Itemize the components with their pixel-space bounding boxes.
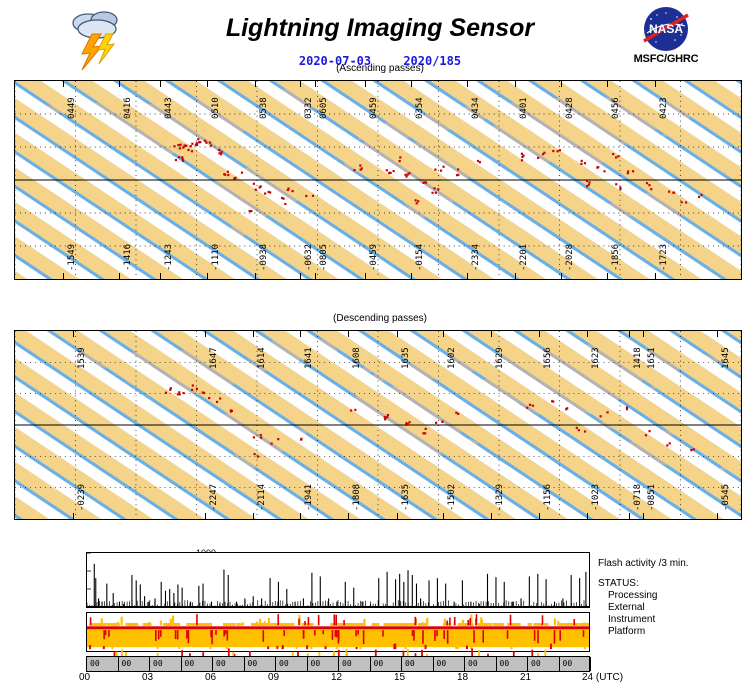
orbit-time-label-top: 1647	[209, 347, 219, 369]
orbit-tick-mark	[315, 81, 316, 87]
orbit-time-label-bottom: -1502	[447, 484, 457, 511]
x-axis-label: 12	[331, 672, 342, 683]
orbit-cell[interactable]: 00	[497, 657, 529, 671]
nasa-logo: NASA MSFC/GHRC	[628, 6, 704, 76]
orbit-tick-mark	[63, 81, 64, 87]
status-heading: STATUS:	[598, 578, 756, 590]
chart-legend: Flash activity /3 min. STATUS: Processin…	[598, 558, 756, 638]
orbit-tick-mark	[629, 513, 630, 519]
orbit-tick-mark	[348, 513, 349, 519]
orbit-time-label-top: 0605	[319, 97, 329, 119]
status-label-external: External	[608, 602, 756, 614]
orbit-tick-mark	[207, 273, 208, 279]
orbit-tick-mark	[411, 273, 412, 279]
orbit-time-label-bottom: -1156	[543, 484, 553, 511]
descending-caption: (Descending passes)	[200, 313, 560, 324]
orbit-time-label-bottom: -2201	[519, 244, 529, 271]
orbit-tick-mark	[207, 81, 208, 87]
thunderstorm-cloud-icon	[62, 6, 134, 72]
orbit-tick-mark	[655, 81, 656, 87]
orbit-time-label-top: 1614	[257, 347, 267, 369]
orbit-tick-mark	[160, 81, 161, 87]
orbit-time-label-bottom: -0938	[259, 244, 269, 271]
orbit-time-label-top: 0401	[519, 97, 529, 119]
orbit-cell[interactable]: 00	[465, 657, 497, 671]
orbit-time-label-bottom: -0718	[633, 484, 643, 511]
orbit-time-label-top: 0510	[211, 97, 221, 119]
orbit-time-label-top: 1651	[647, 347, 657, 369]
orbit-tick-mark	[63, 273, 64, 279]
orbit-time-label-top: 1645	[721, 347, 731, 369]
orbit-time-label-top: 1656	[543, 347, 553, 369]
x-axis-label: 09	[268, 672, 279, 683]
x-axis-label: 21	[520, 672, 531, 683]
orbit-tick-mark	[119, 81, 120, 87]
orbit-time-label-bottom: -1941	[304, 484, 314, 511]
ascending-map-frame: 0449041604430510053803320605045903540434…	[14, 80, 742, 280]
status-panel[interactable]	[86, 612, 590, 652]
orbit-time-label-bottom: -2247	[209, 484, 219, 511]
orbit-cell[interactable]: 00	[150, 657, 182, 671]
x-axis-label: 00	[79, 672, 90, 683]
status-label-processing: Processing	[608, 590, 756, 602]
orbit-time-label-bottom: -1329	[495, 484, 505, 511]
orbit-cell[interactable]: 00	[339, 657, 371, 671]
orbit-time-label-bottom: -2334	[471, 244, 481, 271]
orbit-tick-mark	[587, 513, 588, 519]
orbit-tick-mark	[160, 273, 161, 279]
orbit-tick-mark	[205, 513, 206, 519]
orbit-tick-mark	[629, 331, 630, 337]
orbit-time-label-bottom: -0459	[369, 244, 379, 271]
orbit-tick-mark	[587, 331, 588, 337]
orbit-tick-mark	[73, 331, 74, 337]
flash-activity-chart[interactable]: 1000 100 10 1 00000000000000000000000000…	[60, 548, 750, 676]
orbit-tick-mark	[443, 513, 444, 519]
orbit-tick-mark	[300, 81, 301, 87]
orbit-tick-mark	[655, 273, 656, 279]
orbit-time-label-bottom: -2114	[257, 484, 267, 511]
orbit-time-label-bottom: -1549	[67, 244, 77, 271]
orbit-time-label-bottom: -1723	[659, 244, 669, 271]
orbit-cell[interactable]: 00	[402, 657, 434, 671]
orbit-tick-mark	[443, 331, 444, 337]
orbit-time-label-top: 0443	[164, 97, 174, 119]
orbit-time-label-bottom: -0851	[647, 484, 657, 511]
flash-rate-plot[interactable]	[86, 552, 590, 608]
x-axis-label: 18	[457, 672, 468, 683]
orbit-tick-mark	[253, 513, 254, 519]
orbit-time-label-bottom: -1808	[352, 484, 362, 511]
orbit-tick-mark	[73, 513, 74, 519]
orbit-tick-mark	[561, 81, 562, 87]
orbit-time-label-bottom: -0154	[415, 244, 425, 271]
status-label-platform: Platform	[608, 626, 756, 638]
orbit-time-label-top: 1602	[447, 347, 457, 369]
orbit-time-label-top: 0416	[123, 97, 133, 119]
status-bars	[87, 613, 589, 651]
orbit-cell[interactable]: 00	[87, 657, 119, 671]
orbit-tick-mark	[119, 273, 120, 279]
orbit-time-label-bottom: -1023	[591, 484, 601, 511]
orbit-time-label-bottom: -1635	[401, 484, 411, 511]
x-axis-label: 03	[142, 672, 153, 683]
descending-map-frame: 1539164716141641160816351602162916561623…	[14, 330, 742, 520]
orbit-tick-mark	[397, 513, 398, 519]
orbit-tick-mark	[491, 331, 492, 337]
orbit-tick-mark	[253, 331, 254, 337]
orbit-time-label-top: 0428	[565, 97, 575, 119]
orbit-time-label-bottom: -1110	[211, 244, 221, 271]
orbit-time-label-top: 1608	[352, 347, 362, 369]
orbit-tick-mark	[607, 81, 608, 87]
orbit-tick-mark	[397, 331, 398, 337]
orbit-tick-mark	[643, 513, 644, 519]
orbit-cell[interactable]: 00	[182, 657, 214, 671]
orbit-tick-mark	[515, 81, 516, 87]
orbit-tick-mark	[315, 273, 316, 279]
nasa-meatball-icon: NASA	[637, 6, 695, 52]
orbit-time-label-bottom: -0239	[77, 484, 87, 511]
orbit-cell[interactable]: 00	[560, 657, 592, 671]
status-label-instrument: Instrument	[608, 614, 756, 626]
orbit-time-label-bottom: -1243	[164, 244, 174, 271]
x-axis-label: 15	[394, 672, 405, 683]
orbit-tick-mark	[561, 273, 562, 279]
orbit-time-label-top: 1418	[633, 347, 643, 369]
orbit-tick-mark	[300, 513, 301, 519]
orbit-tick-mark	[491, 513, 492, 519]
orbit-time-label-top: 0538	[259, 97, 269, 119]
orbit-tick-mark	[300, 273, 301, 279]
ascending-passes-map[interactable]: 0449041604430510053803320605045903540434…	[14, 80, 742, 280]
x-axis-end-label: 24 (UTC)	[582, 672, 623, 683]
orbit-cell[interactable]: 00	[308, 657, 340, 671]
orbit-tick-mark	[205, 331, 206, 337]
orbit-tick-mark	[348, 331, 349, 337]
page-title: Lightning Imaging Sensor	[200, 14, 560, 43]
flash-rate-series	[87, 553, 589, 607]
orbit-time-label-bottom: -1856	[611, 244, 621, 271]
orbit-tick-mark	[467, 81, 468, 87]
flash-activity-label: Flash activity /3 min.	[598, 558, 756, 569]
orbit-cell[interactable]: 00	[434, 657, 466, 671]
orbit-time-label-top: 0459	[369, 97, 379, 119]
orbit-tick-mark	[515, 273, 516, 279]
descending-passes-map[interactable]: 1539164716141641160816351602162916561623…	[14, 330, 742, 520]
orbit-tick-mark	[255, 273, 256, 279]
orbit-tick-mark	[365, 273, 366, 279]
orbit-time-label-bottom: -2028	[565, 244, 575, 271]
orbit-tick-mark	[643, 331, 644, 337]
orbit-tick-mark	[467, 273, 468, 279]
orbit-cell[interactable]: 00	[213, 657, 245, 671]
orbit-cell[interactable]: 00	[245, 657, 277, 671]
orbit-tick-mark	[539, 513, 540, 519]
ascending-caption: (Ascending passes)	[200, 63, 560, 74]
orbit-time-label-top: 0449	[67, 97, 77, 119]
orbit-tick-mark	[717, 331, 718, 337]
orbit-time-label-top: 0354	[415, 97, 425, 119]
orbit-time-label-top: 0434	[471, 97, 481, 119]
orbit-time-label-bottom: -0805	[319, 244, 329, 271]
orbit-tick-mark	[255, 81, 256, 87]
orbit-time-label-top: 1623	[591, 347, 601, 369]
orbit-time-label-top: 1635	[401, 347, 411, 369]
orbit-time-label-top: 1539	[77, 347, 87, 369]
orbit-tick-mark	[717, 513, 718, 519]
orbit-time-label-top: 0423	[659, 97, 669, 119]
x-axis-label: 06	[205, 672, 216, 683]
orbit-cell[interactable]: 00	[119, 657, 151, 671]
orbit-tick-mark	[411, 81, 412, 87]
orbit-time-label-bottom: -1416	[123, 244, 133, 271]
agency-label: MSFC/GHRC	[628, 53, 704, 65]
orbit-tick-mark	[607, 273, 608, 279]
orbit-tick-mark	[365, 81, 366, 87]
orbit-time-label-top: 1629	[495, 347, 505, 369]
orbit-time-label-top: 1641	[304, 347, 314, 369]
page-header: Lightning Imaging Sensor 2020-07-03 2020…	[0, 0, 756, 78]
orbit-strip[interactable]: 00000000000000000000000000000000	[86, 656, 590, 672]
orbit-tick-mark	[539, 331, 540, 337]
orbit-cell[interactable]: 00	[528, 657, 560, 671]
orbit-cell[interactable]: 00	[276, 657, 308, 671]
orbit-tick-mark	[300, 331, 301, 337]
orbit-time-label-bottom: -0545	[721, 484, 731, 511]
orbit-time-label-bottom: -0632	[304, 244, 314, 271]
orbit-time-label-top: 0332	[304, 97, 314, 119]
orbit-time-label-top: 0456	[611, 97, 621, 119]
svg-text:NASA: NASA	[649, 22, 683, 36]
orbit-cell[interactable]: 00	[371, 657, 403, 671]
